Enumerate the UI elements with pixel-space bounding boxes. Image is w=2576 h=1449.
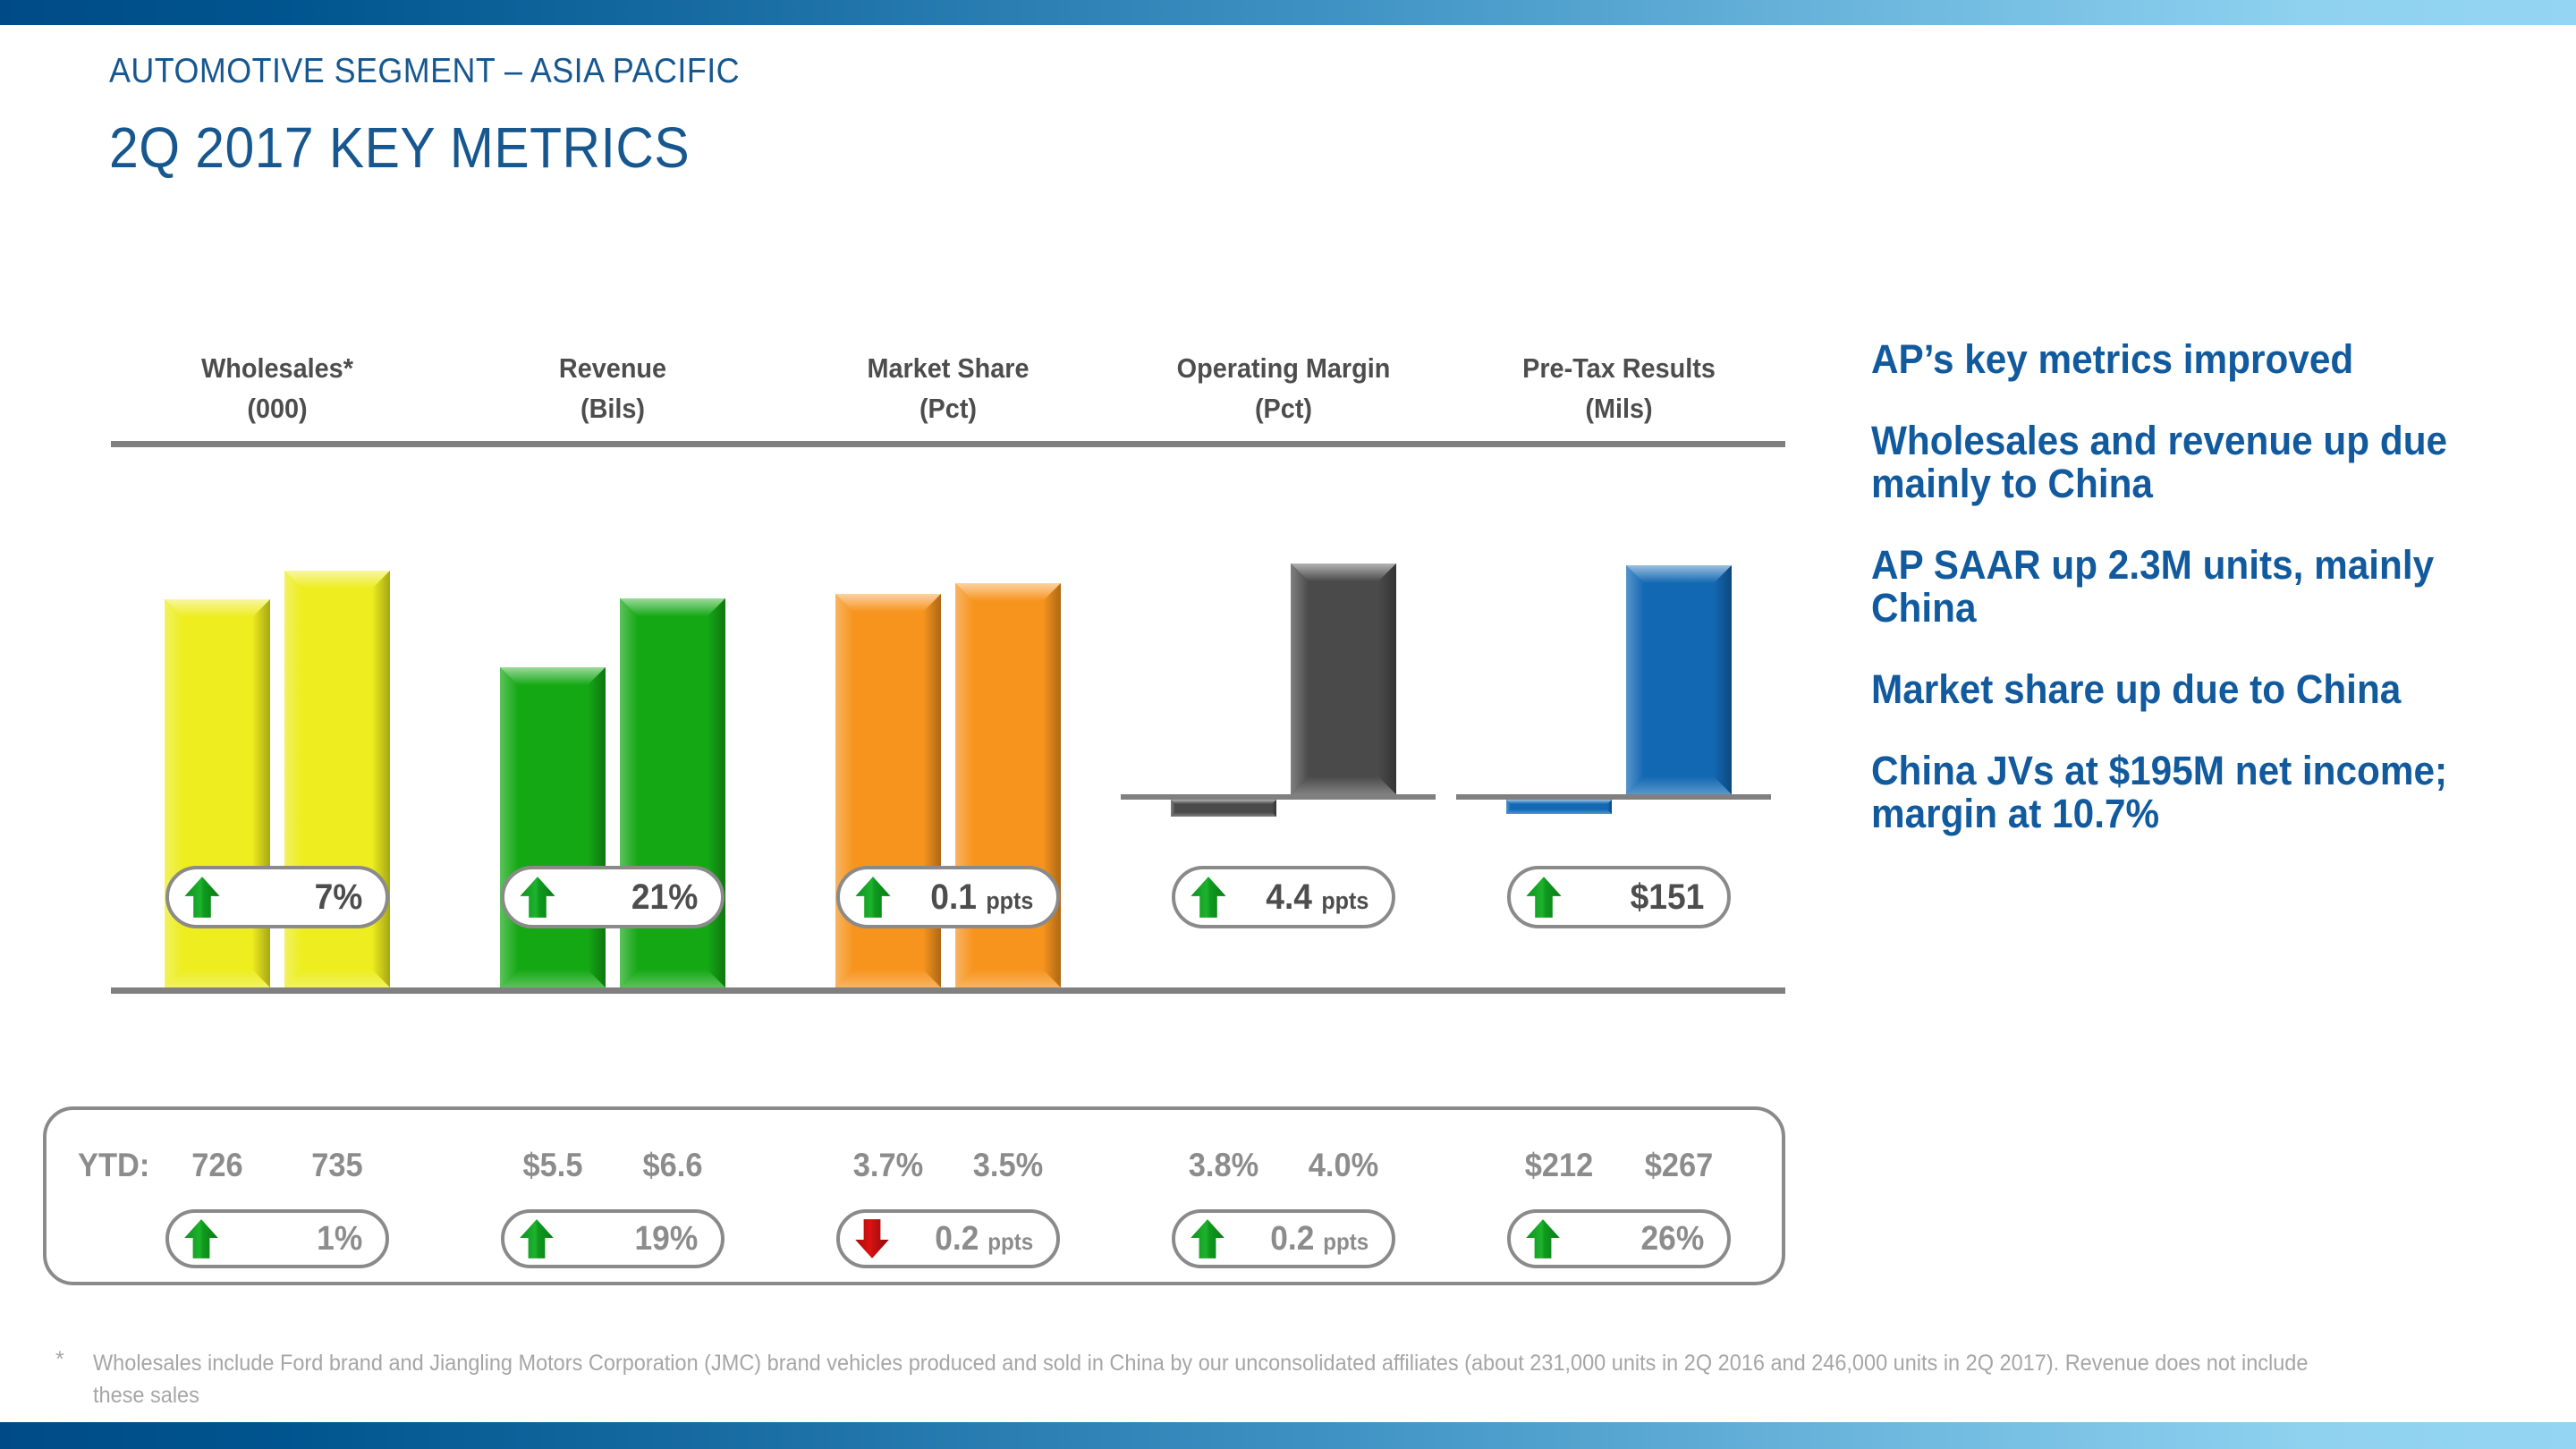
ytd-delta-value: 26% <box>1568 1220 1705 1258</box>
arrow-down-icon <box>852 1217 892 1260</box>
panel-header-line1: Pre-Tax Results <box>1522 352 1716 384</box>
delta-value: 4.4 ppts <box>1234 877 1369 918</box>
ytd-value-market-share-2017: 3.5% <box>919 1147 1097 1184</box>
bar-operating-margin-2017 <box>1291 563 1396 794</box>
bar-pre-tax-results-2017 <box>1626 565 1732 794</box>
panel-header-line2: (000) <box>123 394 432 422</box>
panel-header-line2: (Pct) <box>1129 394 1438 422</box>
panel-header-wholesales: Wholesales*(000) <box>123 354 432 422</box>
panel-header-line2: (Mils) <box>1464 394 1774 422</box>
arrow-up-icon <box>517 1217 556 1260</box>
panel-header-market-share: Market Share(Pct) <box>793 354 1103 422</box>
ytd-delta-badge-revenue: 19% <box>501 1209 724 1268</box>
arrow-up-icon <box>517 875 558 919</box>
panel-header-line1: Market Share <box>867 352 1029 384</box>
bar-market-share-2016 <box>835 594 941 987</box>
commentary-bullet: AP SAAR up 2.3M units, mainly China <box>1871 544 2494 631</box>
delta-value: 0.1 ppts <box>899 877 1034 918</box>
panel-zero-line <box>1121 794 1436 800</box>
arrow-up-icon <box>852 875 894 919</box>
commentary-bullet: Wholesales and revenue up due mainly to … <box>1871 419 2494 506</box>
panel-header-operating-margin: Operating Margin(Pct) <box>1129 354 1438 422</box>
delta-badge-market-share: 0.1 ppts <box>836 866 1060 928</box>
delta-badge-operating-margin: 4.4 ppts <box>1172 866 1395 928</box>
panel-header-line1: Operating Margin <box>1177 352 1391 384</box>
bar-wholesales-2016 <box>165 599 270 987</box>
arrow-up-icon <box>517 1217 556 1260</box>
arrow-up-icon <box>1188 875 1229 919</box>
ytd-delta-value: 1% <box>226 1220 363 1258</box>
panel-header-line2: (Bils) <box>458 394 767 422</box>
commentary-bullet: AP’s key metrics improved <box>1871 338 2494 382</box>
arrow-up-icon <box>1188 1217 1227 1260</box>
delta-badge-revenue: 21% <box>501 866 724 928</box>
ytd-delta-value: 19% <box>562 1220 699 1258</box>
bar-operating-margin-2016 <box>1171 800 1276 817</box>
commentary-list: AP’s key metrics improvedWholesales and … <box>1871 338 2533 874</box>
arrow-up-icon <box>1523 1217 1563 1260</box>
footnote-marker: * <box>55 1347 64 1373</box>
ytd-delta-value: 0.2 ppts <box>897 1220 1034 1258</box>
arrow-up-icon <box>1523 875 1564 919</box>
delta-unit: ppts <box>986 887 1033 914</box>
delta-badge-wholesales: 7% <box>165 866 389 928</box>
arrow-up-icon <box>852 875 894 919</box>
arrow-up-icon <box>182 1217 221 1260</box>
arrow-up-icon <box>182 875 223 919</box>
ytd-delta-badge-operating-margin: 0.2 ppts <box>1172 1209 1395 1268</box>
arrow-up-icon <box>517 875 558 919</box>
arrow-up-icon <box>182 875 223 919</box>
commentary-bullet: China JVs at $195M net income; margin at… <box>1871 750 2494 836</box>
delta-badge-pre-tax-results: $151 <box>1507 866 1731 928</box>
panel-zero-line <box>1456 794 1771 800</box>
ytd-delta-badge-market-share: 0.2 ppts <box>836 1209 1060 1268</box>
bar-pre-tax-results-2016 <box>1506 800 1612 814</box>
panel-header-line1: Revenue <box>559 352 666 384</box>
chart-baseline <box>111 987 1785 994</box>
ytd-delta-unit: ppts <box>1323 1228 1368 1255</box>
bar-revenue-2016 <box>500 667 606 987</box>
ytd-delta-unit: ppts <box>987 1228 1033 1255</box>
ytd-value-pre-tax-results-2017: $267 <box>1589 1147 1767 1184</box>
arrow-up-icon <box>1523 875 1564 919</box>
arrow-up-icon <box>1188 1217 1227 1260</box>
ytd-delta-value: 0.2 ppts <box>1233 1220 1369 1258</box>
arrow-up-icon <box>182 1217 221 1260</box>
ytd-delta-badge-wholesales: 1% <box>165 1209 389 1268</box>
panel-header-revenue: Revenue(Bils) <box>458 354 767 422</box>
panel-header-line2: (Pct) <box>793 394 1103 422</box>
ytd-value-revenue-2017: $6.6 <box>583 1147 761 1184</box>
ytd-delta-badge-pre-tax-results: 26% <box>1507 1209 1731 1268</box>
commentary-bullet: Market share up due to China <box>1871 668 2494 712</box>
bar-revenue-2017 <box>620 598 725 987</box>
delta-value: 21% <box>563 877 699 918</box>
ytd-value-wholesales-2017: 735 <box>248 1147 426 1184</box>
delta-value: $151 <box>1570 877 1705 918</box>
delta-unit: ppts <box>1321 887 1368 914</box>
footnote-text: Wholesales include Ford brand and Jiangl… <box>93 1347 2346 1412</box>
panel-header-pre-tax-results: Pre-Tax Results(Mils) <box>1464 354 1774 422</box>
arrow-up-icon <box>1523 1217 1563 1260</box>
header-divider <box>111 441 1785 447</box>
panel-header-line1: Wholesales* <box>201 352 353 384</box>
arrow-up-icon <box>1188 875 1229 919</box>
delta-value: 7% <box>228 877 363 918</box>
arrow-down-icon <box>852 1217 892 1260</box>
ytd-value-operating-margin-2017: 4.0% <box>1254 1147 1432 1184</box>
